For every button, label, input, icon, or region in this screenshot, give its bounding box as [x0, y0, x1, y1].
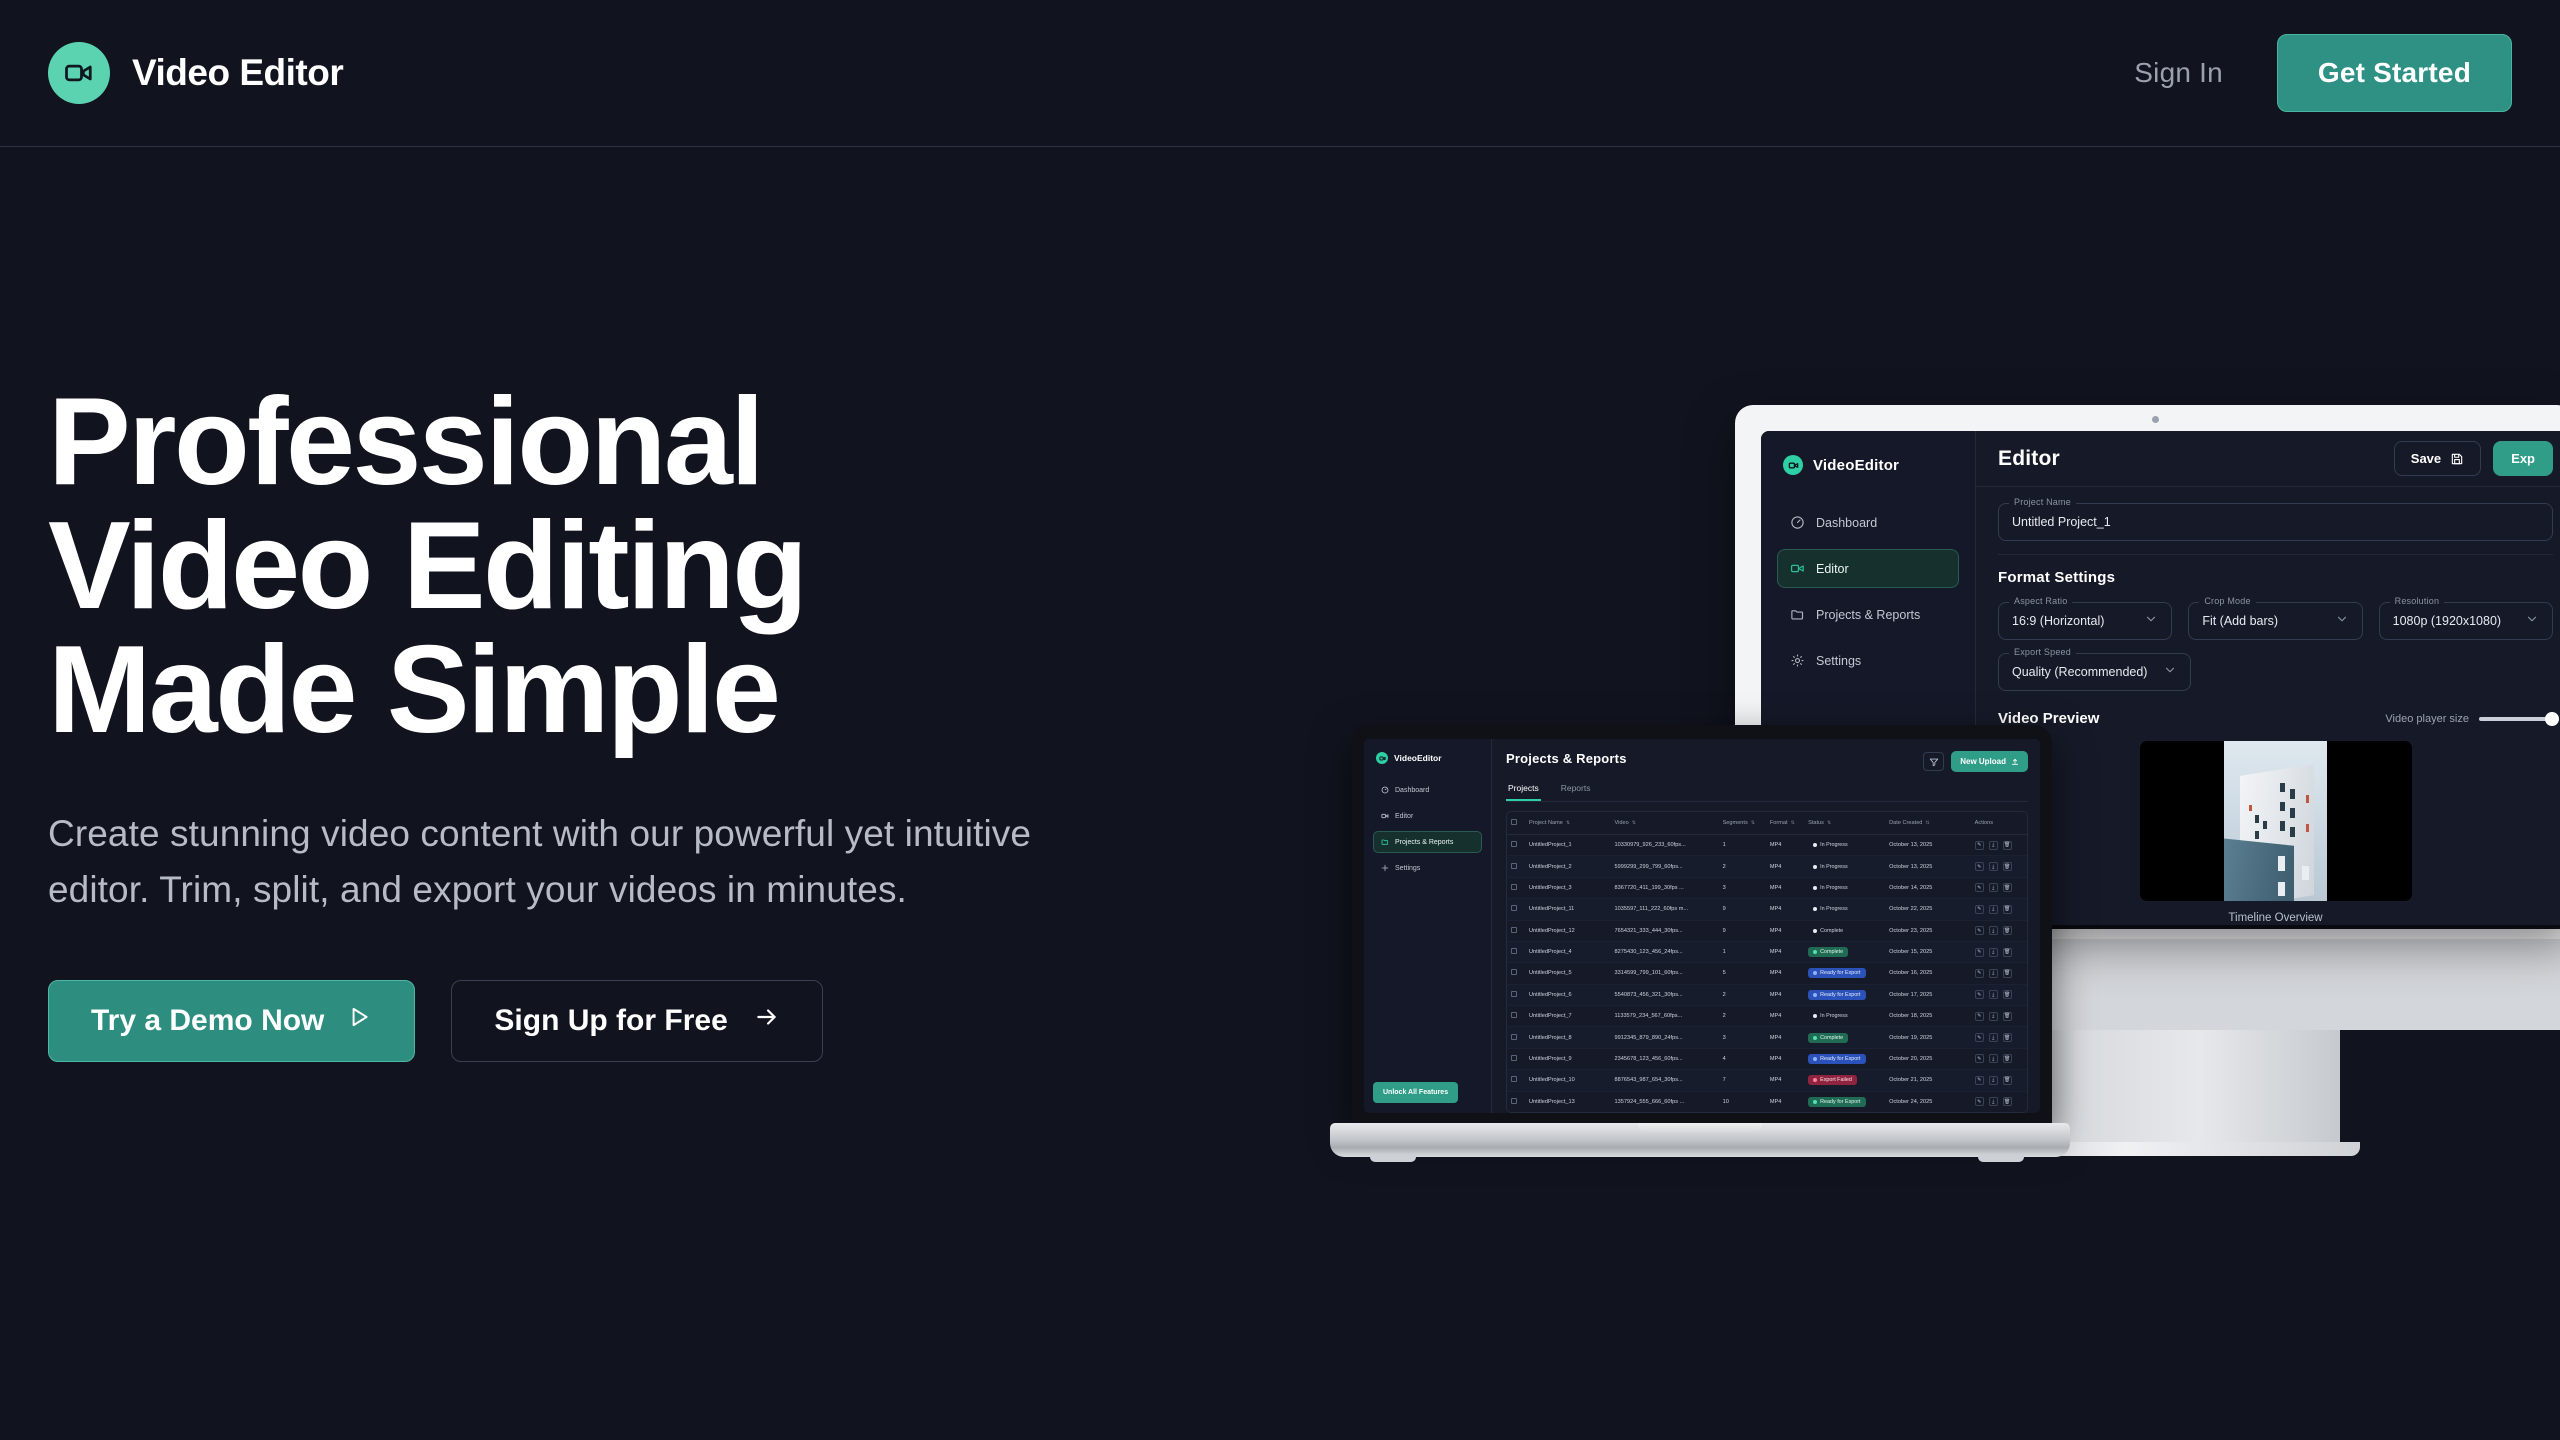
- sign-up-label: Sign Up for Free: [494, 1004, 727, 1038]
- row-checkbox-cell[interactable]: [1507, 1048, 1525, 1069]
- cell-format: MP4: [1766, 1027, 1804, 1048]
- cell-video: 2345678_123_456_60fps...: [1611, 1048, 1719, 1069]
- export-button[interactable]: Exp: [2493, 441, 2553, 476]
- site-header: Video Editor Sign In Get Started: [0, 0, 2560, 147]
- status-badge: Complete: [1808, 926, 1848, 936]
- table-row[interactable]: UntitledProject_48275430_123_456_24fps..…: [1507, 941, 2027, 962]
- status-dot: [1813, 1014, 1817, 1018]
- export-icon[interactable]: ⤓: [1989, 1054, 1998, 1063]
- row-checkbox-cell[interactable]: [1507, 963, 1525, 984]
- export-speed-value: Quality (Recommended): [2012, 665, 2147, 679]
- slider-knob[interactable]: [2545, 712, 2559, 726]
- delete-icon[interactable]: 🗑: [2003, 1054, 2012, 1063]
- cell-date-created: October 19, 2025: [1885, 1027, 1971, 1048]
- webcam-icon: [2152, 416, 2159, 423]
- cell-actions[interactable]: ✎⤓🗑: [1971, 835, 2027, 856]
- laptop-mockup: VideoEditor Dashboard Editor Projects & …: [1330, 725, 2070, 1175]
- timeline-overview-label: Timeline Overview: [1998, 912, 2553, 924]
- play-triangle-icon: [346, 1004, 372, 1038]
- edit-icon[interactable]: ✎: [1975, 969, 1984, 978]
- cell-video: 1133579_234_567_60fps...: [1611, 1006, 1719, 1027]
- project-name-value: Untitled Project_1: [2012, 515, 2111, 529]
- cell-date-created: October 24, 2025: [1885, 1091, 1971, 1112]
- edit-icon[interactable]: ✎: [1975, 1012, 1984, 1021]
- project-name-field[interactable]: Project Name Untitled Project_1: [1998, 503, 2553, 541]
- checkbox-icon[interactable]: [1511, 1098, 1517, 1104]
- cell-project-name: UntitledProject_10: [1525, 1070, 1611, 1091]
- save-label: Save: [2411, 451, 2441, 466]
- cell-project-name: UntitledProject_6: [1525, 984, 1611, 1005]
- delete-icon[interactable]: 🗑: [2003, 969, 2012, 978]
- sort-icon: ⇅: [1632, 820, 1636, 826]
- cell-actions[interactable]: ✎⤓🗑: [1971, 1091, 2027, 1112]
- video-preview-header: Video Preview Video player size: [1998, 710, 2553, 727]
- cell-actions[interactable]: ✎⤓🗑: [1971, 1006, 2027, 1027]
- page-title: Professional Video Editing Made Simple: [48, 380, 1148, 752]
- col-format[interactable]: Format⇅: [1766, 812, 1804, 835]
- sidebar-item-label: Dashboard: [1816, 516, 1877, 530]
- format-settings-title: Format Settings: [1998, 569, 2553, 586]
- cell-project-name: UntitledProject_8: [1525, 1027, 1611, 1048]
- delete-icon[interactable]: 🗑: [2003, 948, 2012, 957]
- cell-project-name: UntitledProject_1: [1525, 835, 1611, 856]
- sort-icon: ⇅: [1791, 820, 1795, 826]
- row-checkbox-cell[interactable]: [1507, 1027, 1525, 1048]
- row-checkbox-cell[interactable]: [1507, 984, 1525, 1005]
- export-icon[interactable]: ⤓: [1989, 990, 1998, 999]
- aspect-ratio-legend: Aspect Ratio: [2009, 596, 2072, 606]
- table-body: UntitledProject_110330979_926_233_60fps.…: [1507, 835, 2027, 1114]
- cell-status: In Progress: [1804, 835, 1885, 856]
- video-frame-thumbnail: [2224, 741, 2327, 901]
- try-demo-button[interactable]: Try a Demo Now: [48, 980, 415, 1062]
- row-checkbox-cell[interactable]: [1507, 856, 1525, 877]
- table-row[interactable]: UntitledProject_110330979_926_233_60fps.…: [1507, 835, 2027, 856]
- sidebar-item-editor[interactable]: Editor: [1373, 805, 1482, 827]
- export-icon[interactable]: ⤓: [1989, 948, 1998, 957]
- row-checkbox-cell[interactable]: [1507, 920, 1525, 941]
- status-badge: In Progress: [1808, 840, 1853, 850]
- new-upload-label: New Upload: [1960, 757, 2006, 766]
- cell-actions[interactable]: ✎⤓🗑: [1971, 963, 2027, 984]
- table-row[interactable]: UntitledProject_71133579_234_567_60fps..…: [1507, 1006, 2027, 1027]
- delete-icon[interactable]: 🗑: [2003, 1033, 2012, 1042]
- checkbox-icon[interactable]: [1511, 969, 1517, 975]
- checkbox-icon[interactable]: [1511, 927, 1517, 933]
- sidebar-item-label: Dashboard: [1395, 787, 1429, 794]
- export-icon[interactable]: ⤓: [1989, 969, 1998, 978]
- cell-actions[interactable]: ✎⤓🗑: [1971, 984, 2027, 1005]
- gauge-icon: [1790, 515, 1805, 530]
- cell-video: 1357924_555_666_60fps ...: [1611, 1091, 1719, 1112]
- cell-date-created: October 15, 2025: [1885, 941, 1971, 962]
- cell-status: Complete: [1804, 920, 1885, 941]
- cell-segments: 2: [1719, 856, 1766, 877]
- checkbox-icon[interactable]: [1511, 991, 1517, 997]
- player-size-slider[interactable]: [2479, 717, 2553, 721]
- resolution-select[interactable]: Resolution 1080p (1920x1080): [2379, 602, 2553, 640]
- status-dot: [1813, 1100, 1817, 1104]
- cell-video: 10330979_926_233_60fps...: [1611, 835, 1719, 856]
- cell-format: MP4: [1766, 1091, 1804, 1112]
- cell-project-name: UntitledProject_5: [1525, 963, 1611, 984]
- export-icon[interactable]: ⤓: [1989, 841, 1998, 850]
- projects-app-name: VideoEditor: [1394, 753, 1442, 763]
- cell-format: MP4: [1766, 963, 1804, 984]
- cell-format: MP4: [1766, 835, 1804, 856]
- unlock-all-features-button[interactable]: Unlock All Features: [1373, 1082, 1458, 1103]
- building-photo: [2224, 741, 2327, 901]
- cell-project-name: UntitledProject_13: [1525, 1091, 1611, 1112]
- row-checkbox-cell[interactable]: [1507, 1006, 1525, 1027]
- crop-mode-value: Fit (Add bars): [2202, 614, 2278, 628]
- status-dot: [1813, 1078, 1817, 1082]
- cell-segments: 11: [1719, 1112, 1766, 1113]
- cell-project-name: UntitledProject_7: [1525, 1006, 1611, 1027]
- edit-icon[interactable]: ✎: [1975, 948, 1984, 957]
- try-demo-label: Try a Demo Now: [91, 1004, 324, 1038]
- status-badge: Ready for Export: [1808, 1097, 1865, 1107]
- get-started-button[interactable]: Get Started: [2277, 34, 2512, 112]
- cell-video: 7654321_333_444_30fps...: [1611, 920, 1719, 941]
- col-status[interactable]: Status⇅: [1804, 812, 1885, 835]
- export-speed-legend: Export Speed: [2009, 647, 2076, 657]
- aspect-ratio-value: 16:9 (Horizontal): [2012, 614, 2104, 628]
- delete-icon[interactable]: 🗑: [2003, 905, 2012, 914]
- status-dot: [1813, 907, 1817, 911]
- row-checkbox-cell[interactable]: [1507, 899, 1525, 920]
- cell-date-created: October 13, 2025: [1885, 856, 1971, 877]
- projects-table: Project Name⇅ Video⇅ Segments⇅ Format⇅ S…: [1506, 811, 2028, 1113]
- brand-logo[interactable]: Video Editor: [48, 42, 343, 104]
- sidebar-item-label: Projects & Reports: [1816, 608, 1920, 622]
- video-camera-icon: [48, 42, 110, 104]
- table-row[interactable]: UntitledProject_25999299_299_799_60fps..…: [1507, 856, 2027, 877]
- aspect-ratio-select[interactable]: Aspect Ratio 16:9 (Horizontal): [1998, 602, 2172, 640]
- status-badge: In Progress: [1808, 904, 1853, 914]
- projects-header: Projects & Reports New Upload: [1506, 751, 2028, 772]
- edit-icon[interactable]: ✎: [1975, 1097, 1984, 1106]
- cell-actions[interactable]: ✎⤓🗑: [1971, 1112, 2027, 1113]
- sidebar-item-editor[interactable]: Editor: [1777, 549, 1959, 588]
- cell-format: MP4: [1766, 899, 1804, 920]
- cell-segments: 1: [1719, 835, 1766, 856]
- sidebar-item-projects-reports[interactable]: Projects & Reports: [1373, 831, 1482, 853]
- cell-actions[interactable]: ✎⤓🗑: [1971, 1070, 2027, 1091]
- chevron-down-icon: [2163, 663, 2177, 682]
- filter-funnel-icon[interactable]: [1923, 752, 1944, 771]
- edit-icon[interactable]: ✎: [1975, 990, 1984, 999]
- cell-segments: 2: [1719, 984, 1766, 1005]
- status-badge: Ready for Export: [1808, 1054, 1865, 1064]
- select-all-checkbox-cell[interactable]: [1507, 812, 1525, 835]
- delete-icon[interactable]: 🗑: [2003, 1012, 2012, 1021]
- projects-tabs: Projects Reports: [1506, 783, 2028, 802]
- export-icon[interactable]: ⤓: [1989, 1012, 1998, 1021]
- cell-status: Ready for Export: [1804, 963, 1885, 984]
- edit-icon[interactable]: ✎: [1975, 1054, 1984, 1063]
- resolution-value: 1080p (1920x1080): [2393, 614, 2501, 628]
- cell-format: MP4: [1766, 877, 1804, 898]
- divider: [1998, 554, 2553, 555]
- project-name-legend: Project Name: [2009, 497, 2076, 507]
- delete-icon[interactable]: 🗑: [2003, 841, 2012, 850]
- hero-cta-group: Try a Demo Now Sign Up for Free: [48, 980, 1148, 1062]
- table-row[interactable]: UntitledProject_65540873_456_321_30fps..…: [1507, 984, 2027, 1005]
- edit-icon[interactable]: ✎: [1975, 841, 1984, 850]
- checkbox-icon[interactable]: [1511, 1076, 1517, 1082]
- export-icon[interactable]: ⤓: [1989, 862, 1998, 871]
- projects-sidebar: VideoEditor Dashboard Editor Projects & …: [1364, 739, 1492, 1113]
- cell-video: 5540873_456_321_30fps...: [1611, 984, 1719, 1005]
- table-header-row: Project Name⇅ Video⇅ Segments⇅ Format⇅ S…: [1507, 812, 2027, 835]
- export-icon[interactable]: ⤓: [1989, 1033, 1998, 1042]
- cell-project-name: UntitledProject_9: [1525, 1048, 1611, 1069]
- status-badge: In Progress: [1808, 862, 1853, 872]
- cell-project-name: UntitledProject_11: [1525, 899, 1611, 920]
- status-dot: [1813, 865, 1817, 869]
- export-icon[interactable]: ⤓: [1989, 1076, 1998, 1085]
- delete-icon[interactable]: 🗑: [2003, 862, 2012, 871]
- edit-icon[interactable]: ✎: [1975, 1076, 1984, 1085]
- video-camera-icon: [1381, 812, 1389, 820]
- sort-icon: ⇅: [1827, 820, 1831, 826]
- sidebar-item-label: Editor: [1395, 813, 1413, 820]
- gear-icon: [1790, 653, 1805, 668]
- cell-segments: 1: [1719, 941, 1766, 962]
- laptop-lid: VideoEditor Dashboard Editor Projects & …: [1352, 725, 2052, 1125]
- cell-actions[interactable]: ✎⤓🗑: [1971, 1048, 2027, 1069]
- cell-date-created: October 13, 2025: [1885, 835, 1971, 856]
- cell-segments: 3: [1719, 877, 1766, 898]
- cell-format: MP4: [1766, 1112, 1804, 1113]
- row-checkbox-cell[interactable]: [1507, 1091, 1525, 1112]
- checkbox-icon[interactable]: [1511, 884, 1517, 890]
- export-icon[interactable]: ⤓: [1989, 883, 1998, 892]
- table-row[interactable]: UntitledProject_111035597_111_222_60fps …: [1507, 899, 2027, 920]
- status-dot: [1813, 950, 1817, 954]
- projects-app-logo: VideoEditor: [1373, 752, 1482, 764]
- new-upload-button[interactable]: New Upload: [1951, 751, 2028, 772]
- export-icon[interactable]: ⤓: [1989, 926, 1998, 935]
- checkbox-icon[interactable]: [1511, 1055, 1517, 1061]
- cell-segments: 5: [1719, 963, 1766, 984]
- row-checkbox-cell[interactable]: [1507, 941, 1525, 962]
- player-size-control[interactable]: Video player size: [2385, 713, 2553, 725]
- headline-line-3: Made Simple: [48, 628, 1148, 752]
- export-speed-select[interactable]: Export Speed Quality (Recommended): [1998, 653, 2191, 691]
- sort-icon: ⇅: [1566, 820, 1570, 826]
- cell-segments: 4: [1719, 1048, 1766, 1069]
- cell-video: 8367720_411_199_30fps ...: [1611, 877, 1719, 898]
- row-checkbox-cell[interactable]: [1507, 877, 1525, 898]
- cell-date-created: October 16, 2025: [1885, 963, 1971, 984]
- col-video[interactable]: Video⇅: [1611, 812, 1719, 835]
- cell-date-created: October 18, 2025: [1885, 1006, 1971, 1027]
- cell-video: 8876543_987_654_30fps...: [1611, 1070, 1719, 1091]
- status-dot: [1813, 886, 1817, 890]
- delete-icon[interactable]: 🗑: [2003, 1097, 2012, 1106]
- cell-format: MP4: [1766, 1006, 1804, 1027]
- cell-date-created: October 22, 2025: [1885, 899, 1971, 920]
- cell-format: MP4: [1766, 1048, 1804, 1069]
- cell-status: In Progress: [1804, 877, 1885, 898]
- chevron-down-icon: [2335, 612, 2349, 631]
- editor-topbar: Editor Save Exp: [1976, 431, 2560, 487]
- header-actions: Sign In Get Started: [2134, 34, 2512, 112]
- col-actions: Actions: [1971, 812, 2027, 835]
- cell-actions[interactable]: ✎⤓🗑: [1971, 877, 2027, 898]
- cell-segments: 2: [1719, 1006, 1766, 1027]
- edit-icon[interactable]: ✎: [1975, 862, 1984, 871]
- folder-icon: [1790, 607, 1805, 622]
- status-badge: In Progress: [1808, 1011, 1853, 1021]
- tab-reports[interactable]: Reports: [1559, 783, 1593, 801]
- delete-icon[interactable]: 🗑: [2003, 926, 2012, 935]
- cell-project-name: UntitledProject_4: [1525, 941, 1611, 962]
- chevron-down-icon: [2144, 612, 2158, 631]
- table-row[interactable]: UntitledProject_38367720_411_199_30fps .…: [1507, 877, 2027, 898]
- col-segments[interactable]: Segments⇅: [1719, 812, 1766, 835]
- sort-icon: ⇅: [1925, 820, 1929, 826]
- export-icon[interactable]: ⤓: [1989, 1097, 1998, 1106]
- row-checkbox-cell[interactable]: [1507, 1112, 1525, 1113]
- brand-name: Video Editor: [132, 52, 343, 94]
- arrow-right-icon: [754, 1004, 780, 1038]
- delete-icon[interactable]: 🗑: [2003, 990, 2012, 999]
- status-badge: Export Failed: [1808, 1075, 1857, 1085]
- sidebar-item-label: Projects & Reports: [1395, 839, 1453, 846]
- delete-icon[interactable]: 🗑: [2003, 1076, 2012, 1085]
- crop-mode-legend: Crop Mode: [2199, 596, 2255, 606]
- checkbox-icon[interactable]: [1511, 819, 1517, 825]
- laptop-screen: VideoEditor Dashboard Editor Projects & …: [1364, 739, 2040, 1113]
- tab-projects[interactable]: Projects: [1506, 783, 1541, 801]
- cell-status: Ready for Export: [1804, 984, 1885, 1005]
- editor-page-title: Editor: [1998, 447, 2060, 471]
- sidebar-item-label: Editor: [1816, 562, 1849, 576]
- save-disk-icon: [2450, 452, 2464, 466]
- cell-date-created: October 21, 2025: [1885, 1070, 1971, 1091]
- folder-icon: [1381, 838, 1389, 846]
- crop-mode-select[interactable]: Crop Mode Fit (Add bars): [2188, 602, 2362, 640]
- projects-page-title: Projects & Reports: [1506, 751, 1627, 766]
- sidebar-item-label: Settings: [1395, 865, 1420, 872]
- video-camera-icon: [1790, 561, 1805, 576]
- sidebar-item-projects-reports[interactable]: Projects & Reports: [1777, 595, 1959, 634]
- cell-status: Export Failed: [1804, 1070, 1885, 1091]
- row-checkbox-cell[interactable]: [1507, 1070, 1525, 1091]
- sidebar-item-label: Settings: [1816, 654, 1861, 668]
- checkbox-icon[interactable]: [1511, 948, 1517, 954]
- cell-segments: 9: [1719, 899, 1766, 920]
- export-icon[interactable]: ⤓: [1989, 905, 1998, 914]
- video-preview-stage: [2140, 741, 2412, 901]
- product-mockups: VideoEditor Dashboard Editor Projects & …: [1330, 380, 2560, 1210]
- headline-line-1: Professional: [48, 380, 1148, 504]
- status-badge: Ready for Export: [1808, 990, 1865, 1000]
- sidebar-item-dashboard[interactable]: Dashboard: [1777, 503, 1959, 542]
- hero-subtitle: Create stunning video content with our p…: [48, 806, 1118, 918]
- edit-icon[interactable]: ✎: [1975, 926, 1984, 935]
- cell-status: Complete: [1804, 941, 1885, 962]
- checkbox-icon[interactable]: [1511, 863, 1517, 869]
- cell-video: 8275430_123_456_24fps...: [1611, 941, 1719, 962]
- cell-format: MP4: [1766, 1070, 1804, 1091]
- hero-section: Professional Video Editing Made Simple C…: [48, 380, 1148, 1062]
- status-badge: Complete: [1808, 947, 1848, 957]
- status-dot: [1813, 929, 1817, 933]
- edit-icon[interactable]: ✎: [1975, 1033, 1984, 1042]
- col-project-name[interactable]: Project Name⇅: [1525, 812, 1611, 835]
- cell-format: MP4: [1766, 984, 1804, 1005]
- table-row[interactable]: UntitledProject_131357924_555_666_60fps …: [1507, 1091, 2027, 1112]
- sign-up-free-button[interactable]: Sign Up for Free: [451, 980, 822, 1062]
- gauge-icon: [1381, 786, 1389, 794]
- sidebar-item-dashboard[interactable]: Dashboard: [1373, 779, 1482, 801]
- save-button[interactable]: Save: [2394, 441, 2481, 476]
- cell-video: 5999299_299_799_60fps...: [1611, 856, 1719, 877]
- checkbox-icon[interactable]: [1511, 841, 1517, 847]
- checkbox-icon[interactable]: [1511, 1012, 1517, 1018]
- cell-actions[interactable]: ✎⤓🗑: [1971, 920, 2027, 941]
- cell-date-created: October 20, 2025: [1885, 1048, 1971, 1069]
- table-row[interactable]: UntitledProject_127654321_333_444_30fps.…: [1507, 920, 2027, 941]
- cell-status: Complete: [1804, 1027, 1885, 1048]
- status-dot: [1813, 1057, 1817, 1061]
- table-row[interactable]: UntitledProject_89912345_879_890_24fps..…: [1507, 1027, 2027, 1048]
- video-camera-icon: [1783, 455, 1803, 475]
- cell-date-created: October 14, 2025: [1885, 877, 1971, 898]
- checkbox-icon[interactable]: [1511, 1034, 1517, 1040]
- status-dot: [1813, 843, 1817, 847]
- table-row[interactable]: UntitledProject_92345678_123_456_60fps..…: [1507, 1048, 2027, 1069]
- cell-status: In Progress: [1804, 899, 1885, 920]
- gear-icon: [1381, 864, 1389, 872]
- table-row[interactable]: UntitledProject_53314599_799_101_60fps..…: [1507, 963, 2027, 984]
- cell-segments: 9: [1719, 920, 1766, 941]
- upload-icon: [2011, 758, 2019, 766]
- checkbox-icon[interactable]: [1511, 905, 1517, 911]
- format-field-row-1: Aspect Ratio 16:9 (Horizontal) Crop Mode…: [1998, 602, 2553, 653]
- col-date-created[interactable]: Date Created⇅: [1885, 812, 1971, 835]
- cell-format: MP4: [1766, 941, 1804, 962]
- cell-project-name: UntitledProject_2: [1525, 856, 1611, 877]
- edit-icon[interactable]: ✎: [1975, 905, 1984, 914]
- delete-icon[interactable]: 🗑: [2003, 883, 2012, 892]
- sidebar-item-settings[interactable]: Settings: [1777, 641, 1959, 680]
- player-size-label: Video player size: [2385, 713, 2469, 725]
- table-row[interactable]: UntitledProject_108876543_987_654_30fps.…: [1507, 1070, 2027, 1091]
- row-checkbox-cell[interactable]: [1507, 835, 1525, 856]
- cell-actions[interactable]: ✎⤓🗑: [1971, 899, 2027, 920]
- sign-in-link[interactable]: Sign In: [2134, 57, 2223, 89]
- edit-icon[interactable]: ✎: [1975, 883, 1984, 892]
- status-dot: [1813, 1036, 1817, 1040]
- editor-app-logo: VideoEditor: [1777, 455, 1959, 475]
- laptop-notch: [1642, 725, 1762, 738]
- sort-icon: ⇅: [1751, 820, 1755, 826]
- table-row[interactable]: UntitledProject_142468135_777_888_24fps.…: [1507, 1112, 2027, 1113]
- cell-actions[interactable]: ✎⤓🗑: [1971, 1027, 2027, 1048]
- cell-actions[interactable]: ✎⤓🗑: [1971, 856, 2027, 877]
- cell-status: In Progress: [1804, 1006, 1885, 1027]
- projects-header-actions: New Upload: [1923, 751, 2028, 772]
- cell-date-created: October 17, 2025: [1885, 984, 1971, 1005]
- cell-status: Ready for Export: [1804, 1091, 1885, 1112]
- sidebar-item-settings[interactable]: Settings: [1373, 857, 1482, 879]
- cell-actions[interactable]: ✎⤓🗑: [1971, 941, 2027, 962]
